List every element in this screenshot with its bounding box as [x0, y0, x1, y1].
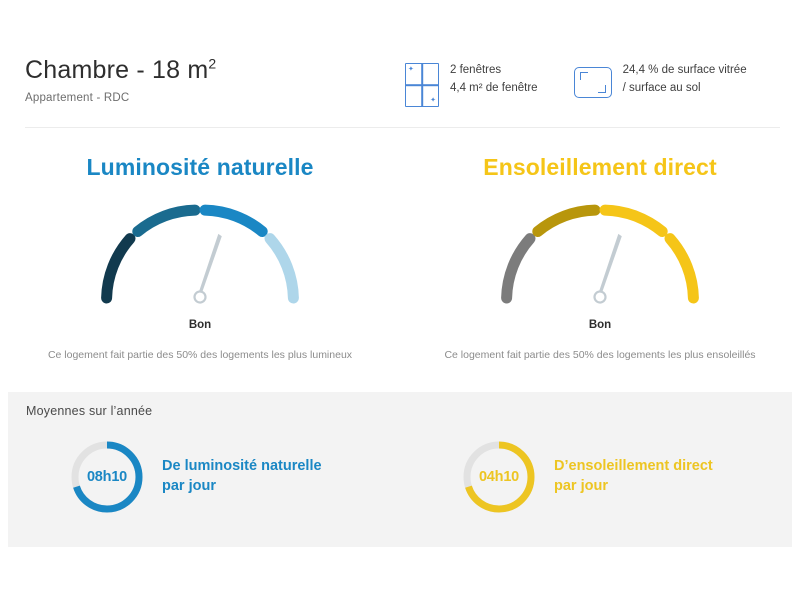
gauge-natural-light-segment-1 — [107, 239, 130, 298]
fact-windows-line1: 2 fenêtres — [450, 64, 501, 76]
fact-glazed-surface-line1: 24,4 % de surface vitrée — [623, 64, 747, 76]
window-icon: ✦ ✦ — [405, 63, 439, 107]
gauge-direct-sunlight-segment-4 — [670, 239, 693, 298]
title-block: Chambre - 18 m2 Appartement - RDC — [25, 58, 216, 104]
average-natural-light-value: 08h10 — [68, 438, 146, 516]
averages-list: 08h10 De luminosité naturelle par jour 0… — [8, 438, 792, 516]
page-title: Chambre - 18 m2 — [25, 58, 216, 83]
page-subtitle: Appartement - RDC — [25, 92, 216, 104]
average-natural-light: 08h10 De luminosité naturelle par jour — [8, 438, 400, 516]
average-natural-light-label: De luminosité naturelle par jour — [162, 457, 322, 496]
report-page: Chambre - 18 m2 Appartement - RDC ✦ ✦ 2 … — [0, 0, 800, 600]
averages-panel-title: Moyennes sur l’année — [26, 404, 152, 418]
gauge-direct-sunlight-segment-1 — [507, 239, 530, 298]
gauge-natural-light-verdict: Bon — [0, 319, 400, 331]
average-natural-light-label-line2: par jour — [162, 477, 322, 497]
floor-surface-icon — [574, 67, 612, 98]
average-direct-sunlight-label-line1: D’ensoleillement direct — [554, 458, 713, 474]
average-direct-sunlight-donut: 04h10 — [460, 438, 538, 516]
averages-panel: Moyennes sur l’année 08h10 De luminosité… — [8, 392, 792, 547]
fact-glazed-surface-line2: / surface au sol — [623, 82, 701, 94]
page-title-text: Chambre - 18 m — [25, 56, 208, 84]
average-natural-light-label-line1: De luminosité naturelle — [162, 458, 322, 474]
gauge-natural-light-needle — [184, 233, 232, 303]
page-header: Chambre - 18 m2 Appartement - RDC ✦ ✦ 2 … — [0, 0, 800, 128]
gauge-natural-light-segment-4 — [270, 239, 293, 298]
gauge-direct-sunlight-description: Ce logement fait partie des 50% des loge… — [440, 347, 760, 364]
gauges-section: Luminosité naturelle Bon Ce loge — [0, 140, 800, 390]
gauge-direct-sunlight-dial — [485, 193, 715, 311]
gauge-direct-sunlight-heading: Ensoleillement direct — [400, 154, 800, 181]
gauge-direct-sunlight-segment-3 — [605, 210, 662, 231]
average-direct-sunlight-label: D’ensoleillement direct par jour — [554, 457, 713, 496]
gauge-natural-light-segment-2 — [138, 210, 195, 231]
gauge-natural-light-dial — [85, 193, 315, 311]
gauge-natural-light: Luminosité naturelle Bon Ce loge — [0, 140, 400, 390]
average-natural-light-donut: 08h10 — [68, 438, 146, 516]
fact-windows: ✦ ✦ 2 fenêtres 4,4 m² de fenêtre — [405, 62, 538, 107]
gauge-natural-light-heading: Luminosité naturelle — [0, 154, 400, 181]
gauge-direct-sunlight-verdict: Bon — [400, 319, 800, 331]
gauge-direct-sunlight-needle — [584, 233, 632, 303]
fact-windows-line2: 4,4 m² de fenêtre — [450, 82, 538, 94]
gauge-natural-light-description: Ce logement fait partie des 50% des loge… — [40, 347, 360, 364]
average-direct-sunlight-value: 04h10 — [460, 438, 538, 516]
gauge-direct-sunlight-segment-2 — [538, 210, 595, 231]
page-title-superscript: 2 — [208, 56, 216, 72]
fact-glazed-surface: 24,4 % de surface vitrée / surface au so… — [574, 62, 747, 98]
gauge-natural-light-segment-3 — [205, 210, 262, 231]
fact-windows-text: 2 fenêtres 4,4 m² de fenêtre — [450, 62, 538, 98]
average-direct-sunlight: 04h10 D’ensoleillement direct par jour — [400, 438, 792, 516]
header-divider — [25, 127, 780, 128]
average-direct-sunlight-label-line2: par jour — [554, 477, 713, 497]
fact-glazed-surface-text: 24,4 % de surface vitrée / surface au so… — [623, 62, 747, 98]
header-facts: ✦ ✦ 2 fenêtres 4,4 m² de fenêtre 24,4 % … — [405, 62, 747, 107]
gauge-direct-sunlight: Ensoleillement direct Bon Ce log — [400, 140, 800, 390]
